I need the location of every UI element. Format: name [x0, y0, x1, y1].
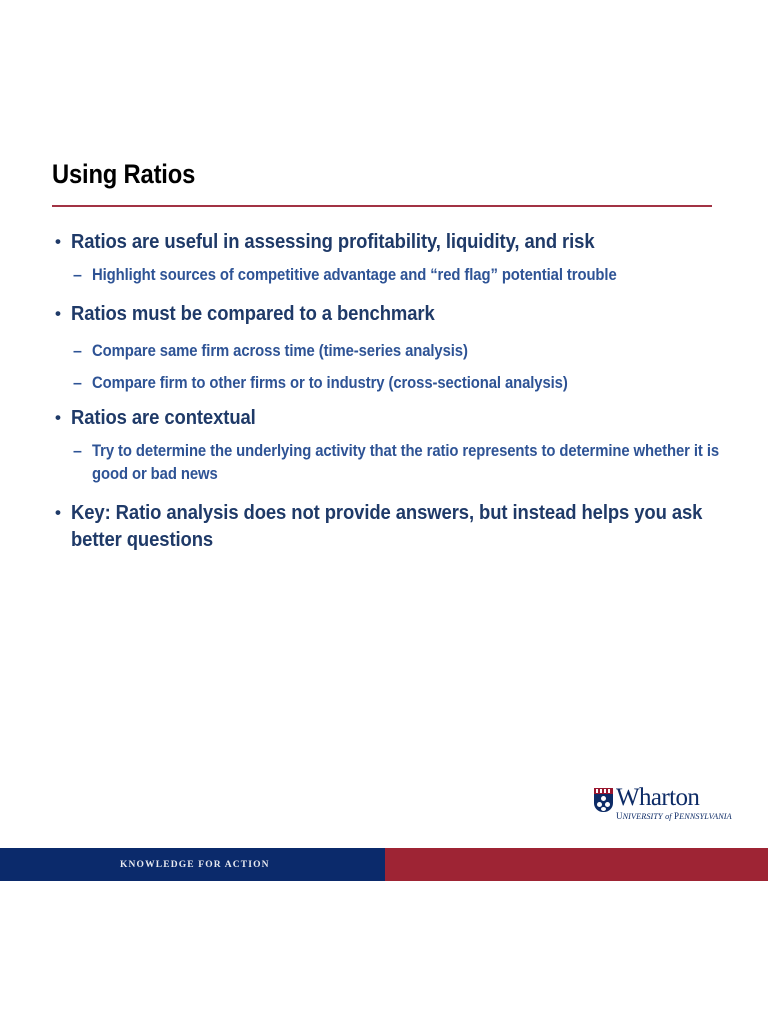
bullet-level2: – Compare firm to other firms or to indu… [52, 372, 724, 395]
logo-subtitle-ennsylvania: ENNSYLVANIA [679, 812, 732, 821]
logo-subtitle: UNIVERSITY of PENNSYLVANIA [616, 811, 732, 822]
footer-red-panel [385, 848, 768, 881]
bullet-dot-icon: • [55, 300, 61, 327]
bullet-level1: • Ratios are useful in assessing profita… [52, 228, 724, 255]
bullet-text: Try to determine the underlying activity… [92, 440, 723, 486]
bullet-dot-icon: • [55, 228, 61, 255]
bullet-text: Ratios must be compared to a benchmark [71, 300, 435, 327]
bullet-dash-icon: – [73, 340, 82, 363]
logo-subtitle-of: of [665, 812, 672, 821]
shield-field [594, 794, 613, 812]
logo-text-group: Wharton UNIVERSITY of PENNSYLVANIA [616, 786, 734, 822]
logo-wordmark: Wharton [616, 785, 734, 810]
logo-subtitle-u: U [616, 811, 623, 821]
footer-bar: KNOWLEDGE FOR ACTION [0, 848, 768, 881]
bullet-text: Ratios are contextual [71, 404, 256, 431]
bullet-dash-icon: – [73, 372, 82, 395]
spacer [52, 488, 724, 499]
logo-row: Wharton UNIVERSITY of PENNSYLVANIA [594, 786, 716, 822]
spacer [52, 329, 724, 340]
bullet-text: Ratios are useful in assessing profitabi… [71, 228, 595, 255]
bullet-dash-icon: – [73, 264, 82, 287]
bullet-dot-icon: • [55, 499, 61, 526]
bullet-text: Compare firm to other firms or to indust… [92, 372, 568, 395]
page-title: Using Ratios [52, 158, 635, 190]
spacer [52, 365, 724, 372]
wharton-logo: Wharton UNIVERSITY of PENNSYLVANIA [594, 786, 716, 834]
bullet-text: Highlight sources of competitive advanta… [92, 264, 617, 287]
footer-navy-panel: KNOWLEDGE FOR ACTION [0, 848, 385, 881]
bullet-dash-icon: – [73, 440, 82, 463]
logo-subtitle-niversity: NIVERSITY [623, 812, 663, 821]
spacer [52, 433, 724, 440]
bullet-level1: • Ratios are contextual [52, 404, 724, 431]
bullet-text: Compare same firm across time (time-seri… [92, 340, 468, 363]
bullet-level2: – Compare same firm across time (time-se… [52, 340, 724, 363]
bullet-list: • Ratios are useful in assessing profita… [52, 228, 724, 555]
title-block: Using Ratios [52, 158, 714, 190]
bullet-level1: • Ratios must be compared to a benchmark [52, 300, 724, 327]
bullet-level2: – Try to determine the underlying activi… [52, 440, 724, 486]
bullet-dot-icon: • [55, 404, 61, 431]
bullet-text: Key: Ratio analysis does not provide ans… [71, 499, 723, 553]
spacer [52, 397, 724, 404]
bullet-level1: • Key: Ratio analysis does not provide a… [52, 499, 724, 553]
footer-tagline: KNOWLEDGE FOR ACTION [120, 859, 270, 871]
title-divider-rule [52, 205, 712, 207]
bullet-level2: – Highlight sources of competitive advan… [52, 264, 724, 287]
slide-canvas: Using Ratios • Ratios are useful in asse… [0, 0, 768, 1024]
penn-shield-icon [594, 788, 613, 812]
spacer [52, 257, 724, 264]
spacer [52, 289, 724, 300]
